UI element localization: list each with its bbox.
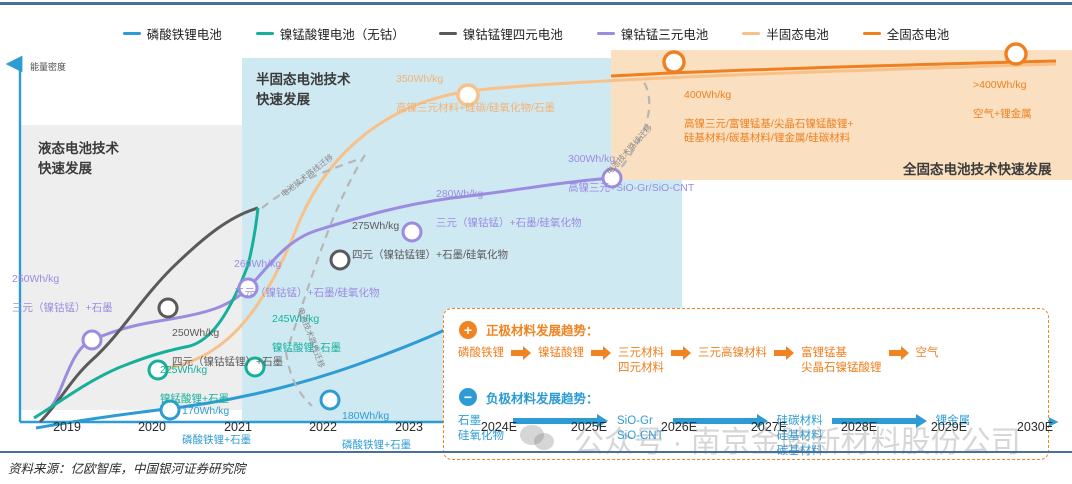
legend-label-1: 镍锰酸锂电池（无钴）: [280, 24, 405, 43]
x-axis-labels: 2019 2020 2021 2022 2023 2024E 2025E 202…: [0, 420, 1072, 442]
annotation-value: 250Wh/kg: [172, 326, 283, 340]
cathode-step-5: 空气: [916, 346, 939, 361]
arrow-right-icon: [889, 346, 909, 360]
minus-icon: −: [459, 388, 477, 406]
x-tick-10: 2029E: [931, 420, 967, 434]
chart-plot-area: 液态电池技术 快速发展 半固态电池技术 快速发展 全固态电池技术快速发展: [0, 50, 1072, 425]
legend-item-0: 磷酸铁锂电池: [123, 24, 222, 43]
arrow-right-icon: [591, 346, 611, 360]
legend-label-5: 全固态电池: [887, 24, 950, 43]
cathode-step-4: 富锂锰基 尖晶石镍锰酸锂: [801, 346, 882, 376]
legend-label-2: 镍钴锰锂四元电池: [463, 24, 563, 43]
cathode-title: 正极材料发展趋势：: [486, 320, 599, 339]
annotation-over400-allsolid: >400Wh/kg 空气+锂金属: [973, 64, 1032, 135]
x-tick-4: 2023: [395, 420, 423, 434]
annotation-value: 280Wh/kg: [436, 187, 582, 201]
x-tick-3: 2022: [309, 420, 337, 434]
arrow-right-icon: [671, 346, 691, 360]
bottom-divider: [0, 451, 1072, 453]
legend-item-1: 镍锰酸锂电池（无钴）: [256, 24, 405, 43]
legend-swatch-lnmo: [256, 32, 274, 35]
legend-swatch-quaternary: [439, 32, 457, 35]
annotation-value: 225Wh/kg: [160, 363, 229, 377]
x-tick-2: 2021: [224, 420, 252, 434]
annotation-desc: 高镍三元+SiO-Gr/SiO-CNT: [568, 181, 694, 195]
cathode-step-0: 磷酸铁锂: [458, 346, 504, 361]
x-tick-0: 2019: [53, 420, 81, 434]
x-tick-8: 2027E: [751, 420, 787, 434]
x-tick-5: 2024E: [481, 420, 517, 434]
anode-title: 负极材料发展趋势：: [486, 388, 599, 407]
annotation-desc: 空气+锂金属: [973, 107, 1032, 121]
legend-label-4: 半固态电池: [766, 24, 829, 43]
legend-swatch-ncm: [597, 32, 615, 35]
top-divider: [0, 2, 1072, 5]
annotation-350-semisolid: 350Wh/kg 高镍三元材料+硅碳/硅氧化物/石墨: [396, 58, 555, 129]
annotation-value: >400Wh/kg: [973, 78, 1032, 92]
cathode-chain: 磷酸铁锂 镍锰酸锂 三元材料 四元材料 三元高镍材料 富锂锰基 尖晶石镍锰酸锂 …: [458, 346, 1048, 376]
annotation-desc: 三元（镍钴锰）+石墨: [12, 301, 113, 315]
plus-icon: +: [459, 321, 477, 339]
annotation-value: 250Wh/kg: [12, 272, 113, 286]
legend-item-5: 全固态电池: [863, 24, 950, 43]
annotation-desc: 四元（镍钴锰锂）+石墨/硅氧化物: [352, 248, 508, 262]
x-tick-1: 2020: [138, 420, 166, 434]
legend-item-3: 镍钴锰三元电池: [597, 24, 709, 43]
legend-label-0: 磷酸铁锂电池: [147, 24, 222, 43]
cathode-step-1: 镍锰酸锂: [538, 346, 584, 361]
annotation-desc: 高镍三元材料+硅碳/硅氧化物/石墨: [396, 101, 555, 115]
legend-item-4: 半固态电池: [742, 24, 829, 43]
legend-swatch-lfp: [123, 32, 141, 35]
annotation-desc: 三元（镍钴锰）+石墨/硅氧化物: [436, 216, 582, 230]
annotation-desc: 三元（镍钴锰）+石墨/硅氧化物: [234, 286, 380, 300]
x-tick-6: 2025E: [571, 420, 607, 434]
annotation-400-allsolid: 400Wh/kg 高镍三元/富锂锰基/尖晶石镍锰酸锂+ 硅基材料/碳基材料/锂金…: [684, 74, 853, 159]
x-tick-11: 2030E: [1017, 420, 1053, 434]
chart-legend: 磷酸铁锂电池 镍锰酸锂电池（无钴） 镍钴锰锂四元电池 镍钴锰三元电池 半固态电池…: [0, 22, 1072, 44]
cathode-header: + 正极材料发展趋势：: [459, 320, 1048, 339]
source-note: 资料来源：亿欧智库，中国银河证券研究院: [8, 458, 246, 477]
arrow-right-icon: [511, 346, 531, 360]
annotation-value: 170Wh/kg: [182, 404, 251, 418]
legend-label-3: 镍钴锰三元电池: [621, 24, 709, 43]
arrow-right-icon: [774, 346, 794, 360]
cathode-step-2: 三元材料 四元材料: [618, 346, 664, 376]
legend-item-2: 镍钴锰锂四元电池: [439, 24, 563, 43]
legend-swatch-allsolid: [863, 32, 881, 35]
annotation-value: 350Wh/kg: [396, 72, 555, 86]
y-axis-label: 能量密度: [30, 60, 66, 73]
x-tick-9: 2028E: [841, 420, 877, 434]
annotation-value: 400Wh/kg: [684, 88, 853, 102]
annotation-250-ncm: 250Wh/kg 三元（镍钴锰）+石墨: [12, 258, 113, 329]
annotation-desc: 高镍三元/富锂锰基/尖晶石镍锰酸锂+ 硅基材料/碳基材料/锂金属/硅碳材料: [684, 117, 853, 145]
x-tick-7: 2026E: [661, 420, 697, 434]
annotation-280-ncm: 280Wh/kg 三元（镍钴锰）+石墨/硅氧化物: [436, 173, 582, 244]
anode-header: − 负极材料发展趋势：: [459, 388, 1048, 407]
legend-swatch-semisolid: [742, 32, 760, 35]
cathode-step-3: 三元高镍材料: [698, 346, 767, 361]
